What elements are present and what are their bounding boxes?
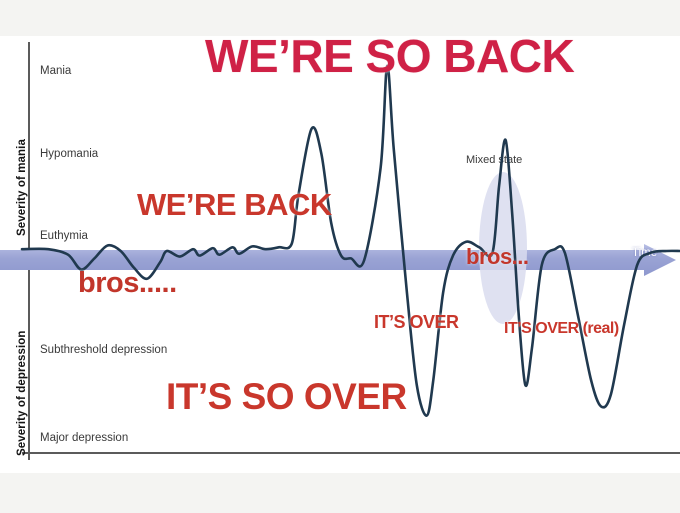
letterbox-bottom [0, 472, 680, 513]
caption-bros-long: bros..... [78, 267, 177, 300]
caption-were-back: WE’RE BACK [137, 187, 332, 223]
chart-plot-area: Severity of mania Severity of depression… [0, 36, 680, 473]
caption-its-over-real: IT’S OVER (real) [504, 320, 619, 338]
caption-bros-short: bros... [466, 244, 529, 270]
caption-were-so-back: WE’RE SO BACK [205, 29, 574, 83]
meme-image: Severity of mania Severity of depression… [0, 0, 680, 513]
caption-its-so-over: IT’S SO OVER [166, 376, 407, 418]
caption-its-over: IT’S OVER [374, 312, 459, 333]
